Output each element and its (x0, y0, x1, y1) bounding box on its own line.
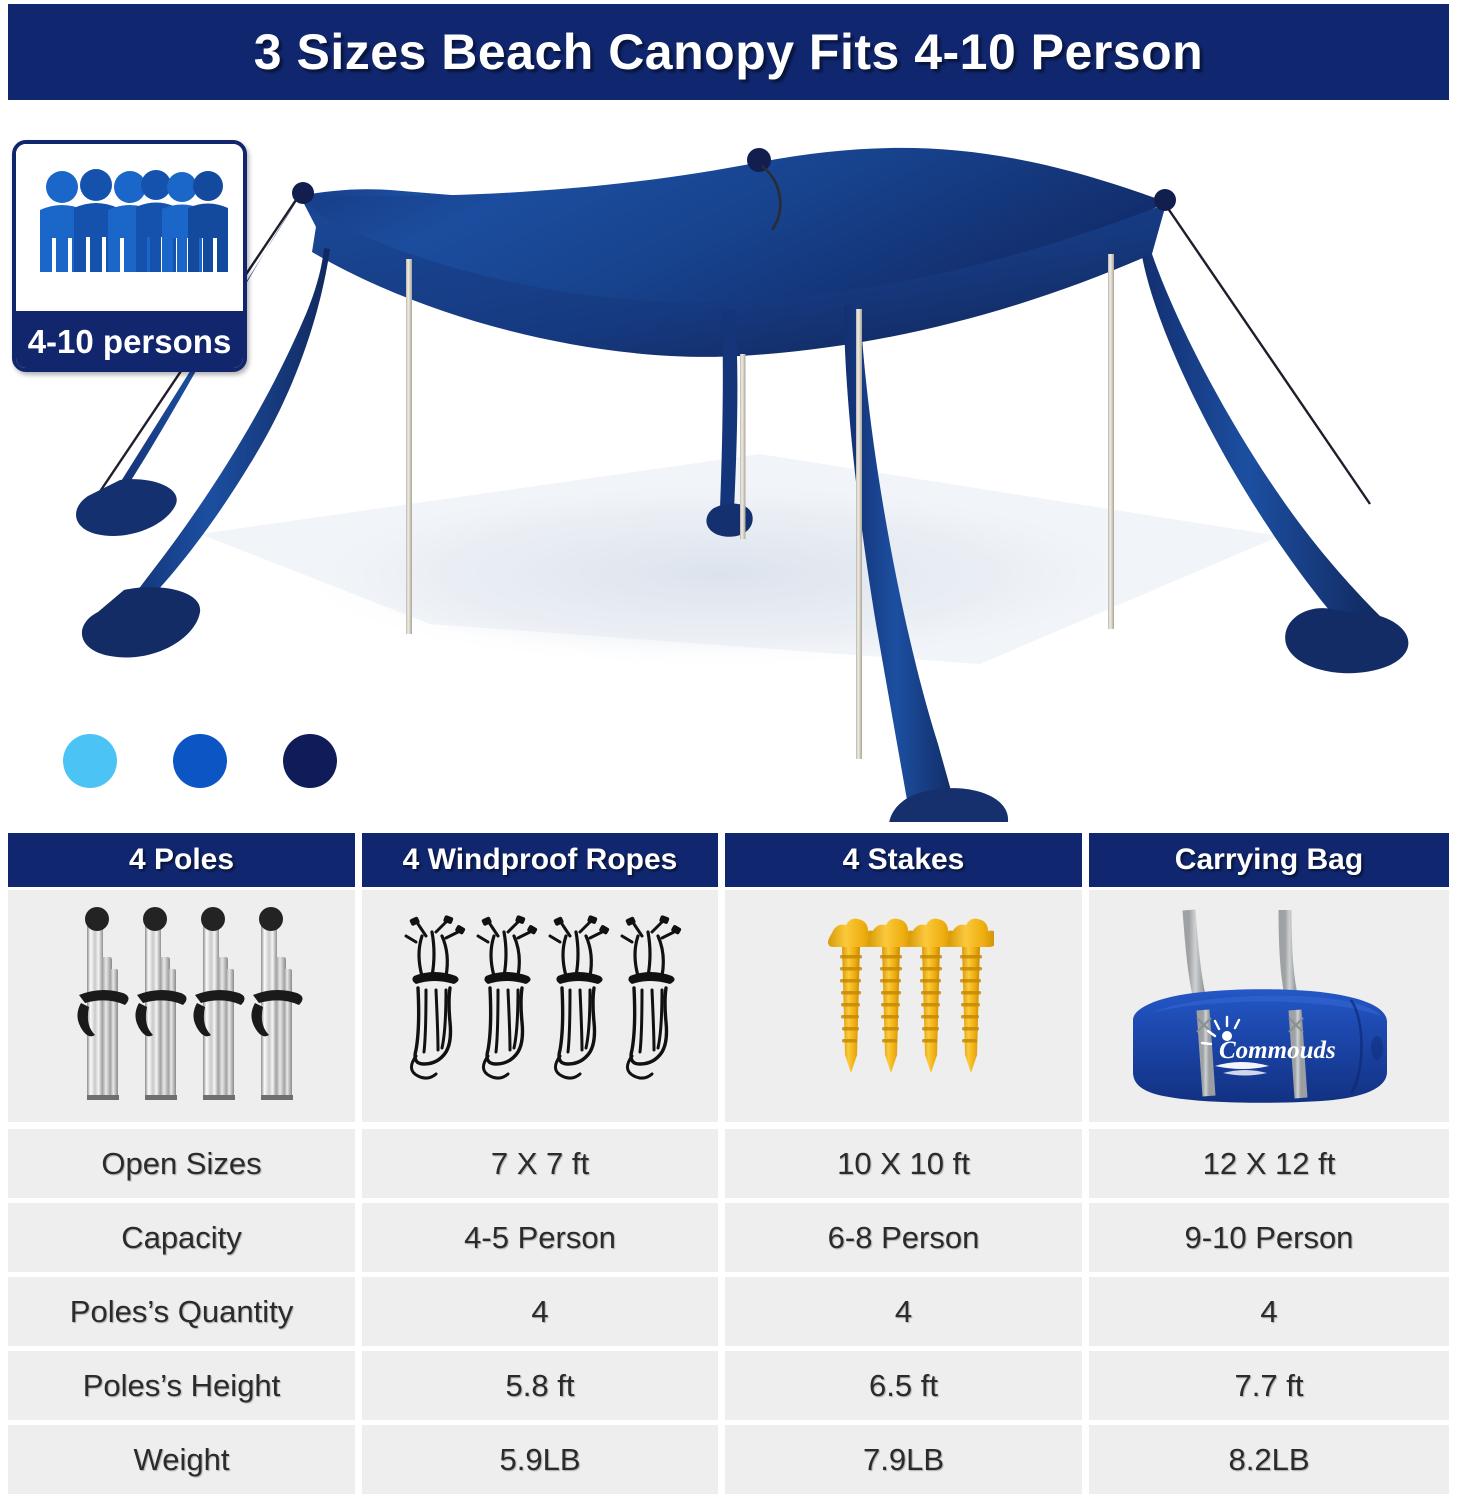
row-label: Open Sizes (8, 1129, 355, 1198)
row-value: 4 (725, 1277, 1082, 1346)
accessory-image-stakes (725, 890, 1082, 1122)
accessory-image-row: Commouds (8, 890, 1449, 1122)
accessory-image-bag: Commouds (1089, 890, 1449, 1122)
accessory-image-ropes (362, 890, 718, 1122)
bag-brand-text: Commouds (1219, 1037, 1336, 1064)
row-value: 4 (1089, 1277, 1449, 1346)
row-value: 5.9LB (362, 1425, 718, 1494)
hero-product-image: 4-10 persons (0, 104, 1457, 822)
accessory-header-bag: Carrying Bag (1089, 833, 1449, 887)
table-row: Weight 5.9LB 7.9LB 8.2LB (8, 1425, 1449, 1494)
accessory-header-row: 4 Poles 4 Windproof Ropes 4 Stakes Carry… (8, 833, 1449, 887)
row-label: Weight (8, 1425, 355, 1494)
table-row: Poles’s Height 5.8 ft 6.5 ft 7.7 ft (8, 1351, 1449, 1420)
row-value: 7.7 ft (1089, 1351, 1449, 1420)
duffel-bag-icon: Commouds (1119, 896, 1419, 1116)
row-value: 7.9LB (725, 1425, 1082, 1494)
table-row: Capacity 4-5 Person 6-8 Person 9-10 Pers… (8, 1203, 1449, 1272)
row-value: 7 X 7 ft (362, 1129, 718, 1198)
row-value: 6.5 ft (725, 1351, 1082, 1420)
row-label: Poles’s Height (8, 1351, 355, 1420)
accessory-header-ropes: 4 Windproof Ropes (362, 833, 718, 887)
row-value: 5.8 ft (362, 1351, 718, 1420)
capacity-badge: 4-10 persons (12, 140, 247, 372)
accessory-header-poles: 4 Poles (8, 833, 355, 887)
coiled-ropes-icon (390, 906, 690, 1106)
screw-stakes-icon (814, 911, 994, 1101)
row-label: Capacity (8, 1203, 355, 1272)
page-title: 3 Sizes Beach Canopy Fits 4-10 Person (254, 23, 1203, 81)
group-of-people-icon (16, 144, 243, 311)
row-value: 6-8 Person (725, 1203, 1082, 1272)
aluminum-poles-icon (57, 899, 307, 1114)
accessory-header-stakes: 4 Stakes (725, 833, 1082, 887)
color-swatch-royal-blue[interactable] (173, 734, 227, 788)
specification-table: Open Sizes 7 X 7 ft 10 X 10 ft 12 X 12 f… (8, 1129, 1449, 1499)
page-title-banner: 3 Sizes Beach Canopy Fits 4-10 Person (8, 4, 1449, 100)
color-swatch-light-blue[interactable] (63, 734, 117, 788)
table-row: Open Sizes 7 X 7 ft 10 X 10 ft 12 X 12 f… (8, 1129, 1449, 1198)
row-value: 12 X 12 ft (1089, 1129, 1449, 1198)
table-row: Poles’s Quantity 4 4 4 (8, 1277, 1449, 1346)
row-value: 9-10 Person (1089, 1203, 1449, 1272)
row-value: 10 X 10 ft (725, 1129, 1082, 1198)
row-value: 4 (362, 1277, 718, 1346)
row-value: 4-5 Person (362, 1203, 718, 1272)
row-label: Poles’s Quantity (8, 1277, 355, 1346)
color-swatch-navy-blue[interactable] (283, 734, 337, 788)
color-swatch-group (63, 734, 337, 788)
accessory-image-poles (8, 890, 355, 1122)
capacity-badge-label: 4-10 persons (16, 311, 243, 372)
row-value: 8.2LB (1089, 1425, 1449, 1494)
